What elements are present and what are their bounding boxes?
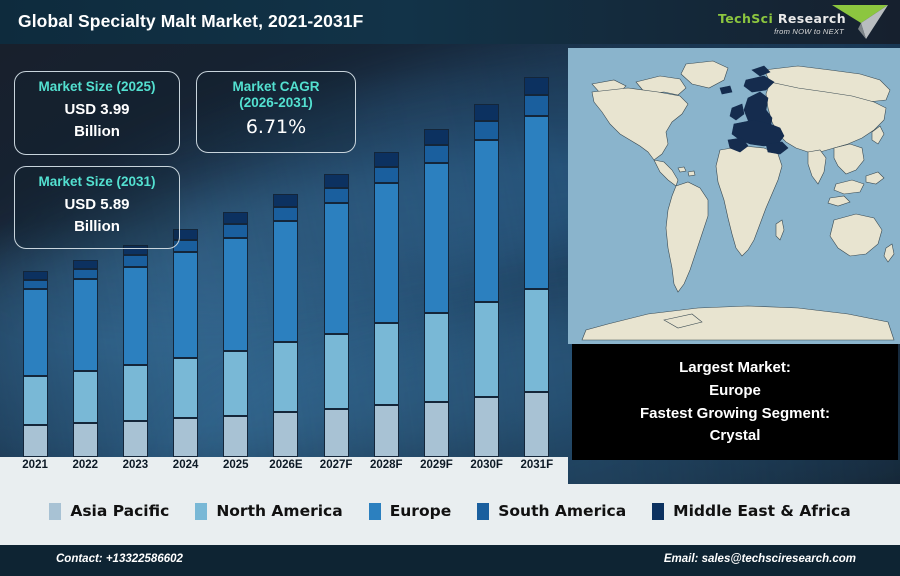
legend-label: North America [216,502,342,520]
stat-card-title: Market CAGR [203,79,349,95]
x-axis-tick-label: 2024 [164,459,208,471]
stacked-bar [324,174,349,457]
largest-market-label: Largest Market: [679,357,791,379]
bar-segment [474,397,499,457]
bar-column [364,44,408,457]
stat-card-value: 6.71% [203,116,349,138]
x-axis-tick-label: 2021 [13,459,57,471]
stat-card-market-size-2031: Market Size (2031) USD 5.89 Billion [14,166,180,249]
bar-segment [123,267,148,365]
largest-market-value: Europe [709,380,761,402]
bar-segment [424,129,449,145]
bar-segment [173,358,198,419]
header-bar: Global Specialty Malt Market, 2021-2031F… [0,0,900,44]
stat-card-market-cagr: Market CAGR (2026-2031) 6.71% [196,71,356,153]
footer-contact: Contact: +13322586602 [56,553,183,565]
bar-segment [173,252,198,357]
bar-segment [524,116,549,290]
x-axis-tick-label: 2031F [515,459,559,471]
bar-segment [474,104,499,121]
bar-segment [73,260,98,269]
bar-segment [524,95,549,116]
bar-segment [324,203,349,333]
bar-segment [223,238,248,351]
stacked-bar [474,104,499,457]
bar-segment [424,313,449,401]
stacked-bar [524,77,549,457]
x-axis-tick-label: 2028F [364,459,408,471]
bar-segment [474,140,499,301]
stat-card-subtitle: (2026-2031) [203,95,349,111]
bar-segment [374,323,399,405]
bar-segment [223,212,248,224]
bar-segment [374,152,399,167]
bar-segment [524,289,549,392]
x-axis-tick-label: 2030F [465,459,509,471]
logo-text: TechSci Research from NOW to NEXT [718,13,850,35]
x-axis-tick-label: 2025 [214,459,258,471]
bar-segment [474,302,499,398]
bar-segment [374,167,399,184]
bar-segment [23,425,48,457]
page-title: Global Specialty Malt Market, 2021-2031F [18,11,363,32]
bar-segment [273,412,298,457]
legend-item[interactable]: Europe [369,502,452,520]
chart-legend: Asia PacificNorth AmericaEuropeSouth Ame… [0,484,900,538]
bar-segment [273,207,298,221]
legend-swatch [49,503,61,520]
logo-tagline: from NOW to NEXT [718,28,850,36]
x-axis-tick-label: 2026E [264,459,308,471]
bar-segment [273,194,298,207]
stacked-bar [374,152,399,457]
key-facts-box: Largest Market: Europe Fastest Growing S… [572,344,898,460]
bar-segment [474,121,499,140]
bar-segment [223,416,248,457]
fastest-segment-value: Crystal [710,425,761,447]
bar-segment [524,392,549,457]
bar-segment [173,418,198,457]
stat-card-value: USD 3.99 [21,101,173,120]
bar-segment [273,221,298,342]
stacked-bar [123,245,148,457]
bar-segment [123,365,148,421]
x-axis-labels: 202120222023202420252026E2027F2028F2029F… [10,459,562,471]
legend-swatch [369,503,381,520]
bar-segment [424,163,449,313]
x-axis-tick-label: 2022 [63,459,107,471]
bar-segment [23,271,48,279]
legend-label: Asia Pacific [70,502,169,520]
bar-segment [424,402,449,458]
world-map [568,48,900,344]
infographic-page: Global Specialty Malt Market, 2021-2031F… [0,0,900,576]
logo-name-primary: TechSci [718,11,773,26]
legend-item[interactable]: South America [477,502,626,520]
company-logo[interactable]: TechSci Research from NOW to NEXT [712,2,892,42]
bar-segment [123,421,148,457]
x-axis-tick-label: 2027F [314,459,358,471]
fastest-segment-label: Fastest Growing Segment: [640,403,830,425]
stat-card-title: Market Size (2031) [21,174,173,190]
bar-segment [23,280,48,290]
footer-email: Email: sales@techsciresearch.com [664,553,856,565]
x-axis-tick-label: 2023 [113,459,157,471]
bar-segment [73,269,98,279]
bar-segment [374,183,399,323]
bar-segment [73,371,98,423]
stacked-bar [73,260,98,457]
bar-segment [223,224,248,238]
legend-swatch [477,503,489,520]
bar-segment [324,334,349,410]
bar-segment [23,376,48,425]
world-map-svg [568,48,900,344]
x-axis-tick-label: 2029F [414,459,458,471]
bar-segment [524,77,549,95]
stacked-bar [23,271,48,457]
bar-segment [324,174,349,188]
bar-segment [223,351,248,416]
logo-name-secondary: Research [773,11,846,26]
stat-card-title: Market Size (2025) [21,79,173,95]
bar-segment [424,145,449,163]
bar-segment [23,289,48,375]
bar-segment [73,279,98,371]
bar-segment [123,255,148,267]
legend-item[interactable]: North America [195,502,342,520]
legend-label: Middle East & Africa [673,502,851,520]
stacked-bar [223,212,248,457]
bar-segment [324,188,349,203]
bar-segment [73,423,98,457]
bar-segment [374,405,399,457]
bar-column [414,44,458,457]
stat-card-market-size-2025: Market Size (2025) USD 3.99 Billion [14,71,180,155]
legend-item[interactable]: Middle East & Africa [652,502,851,520]
bar-column [515,44,559,457]
stat-card-value: USD 5.89 [21,196,173,215]
legend-item[interactable]: Asia Pacific [49,502,169,520]
bar-segment [324,409,349,457]
bar-segment [273,342,298,412]
stat-card-unit: Billion [21,123,173,142]
footer-bar: Contact: +13322586602 Email: sales@techs… [0,545,900,576]
stacked-bar [273,194,298,457]
stacked-bar [424,129,449,457]
stat-card-unit: Billion [21,218,173,237]
legend-label: South America [498,502,626,520]
bar-column [465,44,509,457]
legend-swatch [195,503,207,520]
legend-swatch [652,503,664,520]
legend-label: Europe [390,502,452,520]
stacked-bar [173,229,198,457]
